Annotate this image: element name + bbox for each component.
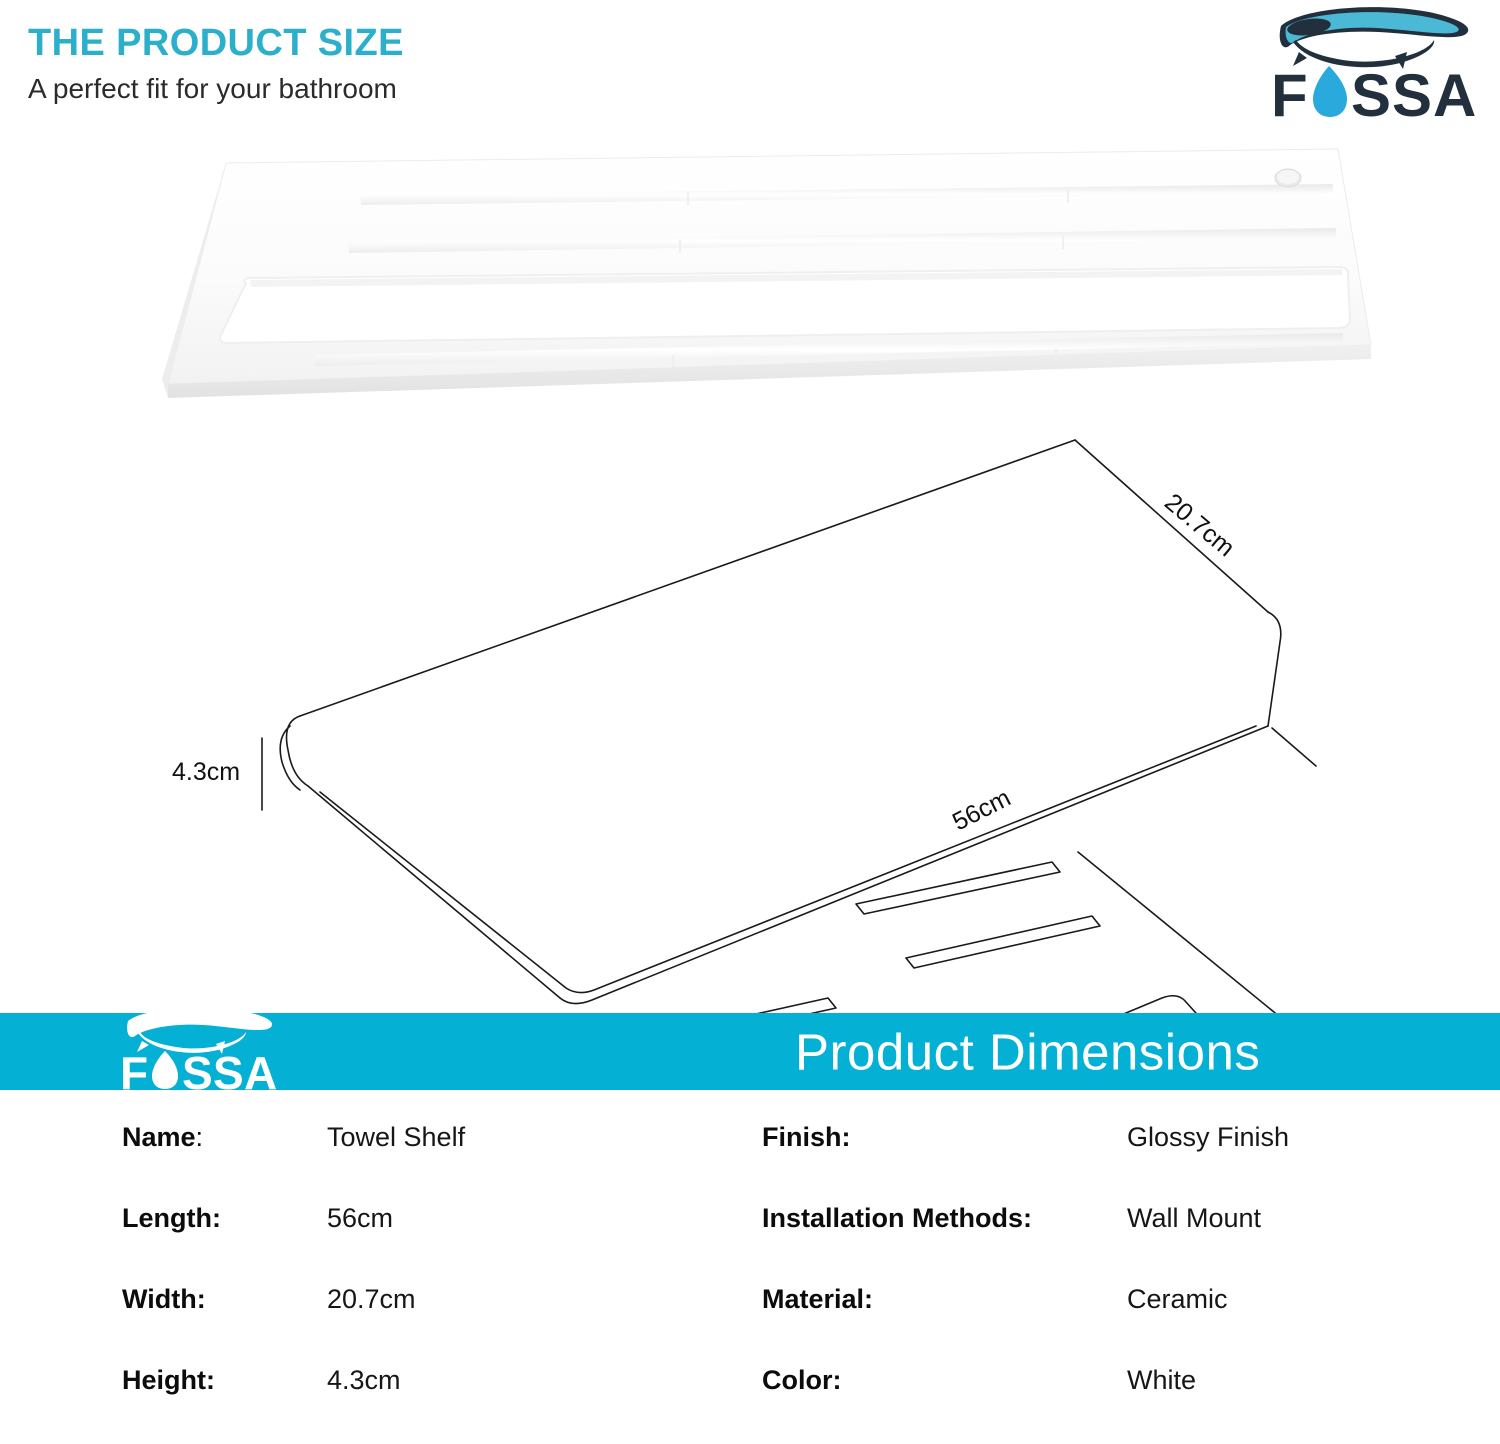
spec-key-finish: Finish: — [762, 1122, 851, 1153]
spec-row-color: Color: White — [762, 1365, 1462, 1395]
spec-row-installation-methods: Installation Methods: Wall Mount — [762, 1203, 1462, 1233]
spec-key-name: Name: — [122, 1122, 203, 1153]
spec-key-material: Material: — [762, 1284, 873, 1315]
logo-letter-a: A — [1433, 62, 1476, 122]
product-photo — [0, 135, 1500, 420]
spec-row-name: Name: Towel Shelf — [122, 1122, 762, 1152]
product-dimensions-table: Name: Towel Shelf Length: 56cm Width: 20… — [0, 1090, 1500, 1444]
banner-logo-letter-s2: S — [213, 1047, 244, 1093]
logo-letter-f: F — [1271, 62, 1308, 122]
spec-value-name: Towel Shelf — [327, 1122, 465, 1153]
banner-logo-letter-s1: S — [182, 1047, 213, 1093]
spec-key-length: Length: — [122, 1203, 221, 1234]
spec-column-left: Name: Towel Shelf Length: 56cm Width: 20… — [122, 1090, 762, 1444]
spec-value-material: Ceramic — [1127, 1284, 1228, 1315]
banner-water-drop-icon — [152, 1051, 178, 1089]
brand-logo-header: F S S A — [1267, 4, 1482, 122]
logo-letter-s1: S — [1351, 62, 1391, 122]
product-infographic: THE PRODUCT SIZE A perfect fit for your … — [0, 0, 1500, 1444]
product-dimensions-banner: F S S A Product Dimensions — [0, 1013, 1500, 1090]
logo-letter-s2: S — [1392, 62, 1432, 122]
spec-row-length: Length: 56cm — [122, 1203, 762, 1233]
spec-value-width: 20.7cm — [327, 1284, 416, 1315]
spec-value-height: 4.3cm — [327, 1365, 401, 1396]
spec-key-height: Height: — [122, 1365, 215, 1396]
spec-key-installation-methods: Installation Methods: — [762, 1203, 1032, 1234]
spec-row-width: Width: 20.7cm — [122, 1284, 762, 1314]
header: THE PRODUCT SIZE A perfect fit for your … — [0, 0, 1500, 135]
dimension-label-length: 56cm — [948, 784, 1015, 837]
spec-key-width: Width: — [122, 1284, 206, 1315]
dimension-label-height: 4.3cm — [172, 758, 240, 786]
spec-row-height: Height: 4.3cm — [122, 1365, 762, 1395]
spec-value-length: 56cm — [327, 1203, 393, 1234]
page-title: THE PRODUCT SIZE — [28, 22, 404, 65]
water-drop-icon — [1313, 66, 1347, 117]
technical-drawing: 20.7cm 56cm 4.3cm — [0, 420, 1500, 1013]
banner-logo-letter-a: A — [244, 1047, 277, 1093]
spec-column-right: Finish: Glossy Finish Installation Metho… — [762, 1090, 1462, 1444]
depth-dimension-line — [1078, 852, 1318, 1013]
shelf-photo-illustration — [128, 147, 1378, 402]
spec-row-finish: Finish: Glossy Finish — [762, 1122, 1462, 1152]
spec-row-material: Material: Ceramic — [762, 1284, 1462, 1314]
spec-value-installation-methods: Wall Mount — [1127, 1203, 1261, 1234]
spec-value-finish: Glossy Finish — [1127, 1122, 1289, 1153]
brand-logo-banner: F S S A — [118, 1005, 283, 1093]
banner-logo-letter-f: F — [120, 1047, 148, 1093]
spec-key-color: Color: — [762, 1365, 842, 1396]
banner-title: Product Dimensions — [795, 1022, 1260, 1081]
page-subtitle: A perfect fit for your bathroom — [28, 73, 397, 105]
spec-value-color: White — [1127, 1365, 1196, 1396]
